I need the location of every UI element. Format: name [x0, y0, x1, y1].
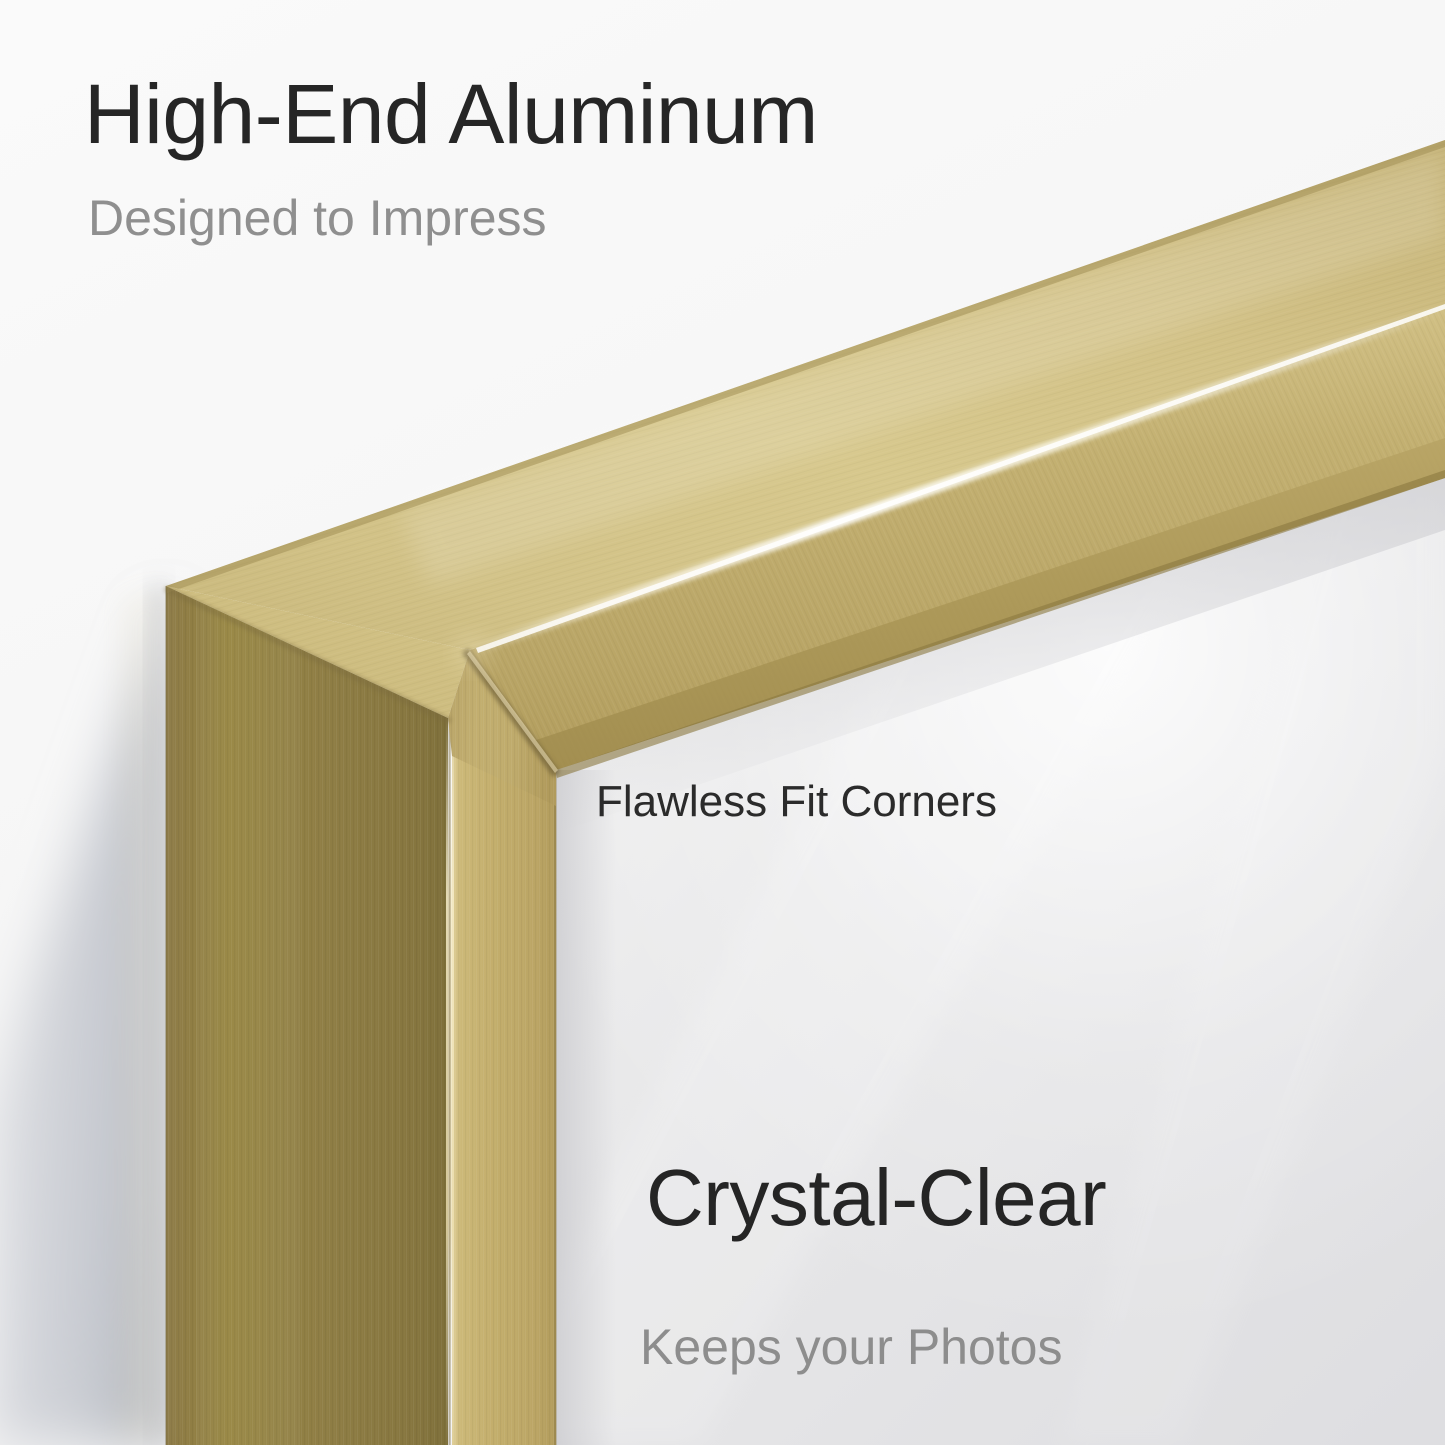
glass-feature-subtitle-line1: Keeps your Photos [640, 1317, 1063, 1378]
product-marketing-image: High-End Aluminum Designed to Impress Fl… [0, 0, 1445, 1445]
glass-feature-subtitle: Keeps your Photos Looking Sharp [640, 1195, 1063, 1445]
page-subtitle: Designed to Impress [88, 192, 547, 245]
page-title: High-End Aluminum [84, 70, 818, 158]
gold-bounce-light [120, 586, 166, 1445]
callout-flawless-fit-corners: Flawless Fit Corners [596, 779, 997, 825]
